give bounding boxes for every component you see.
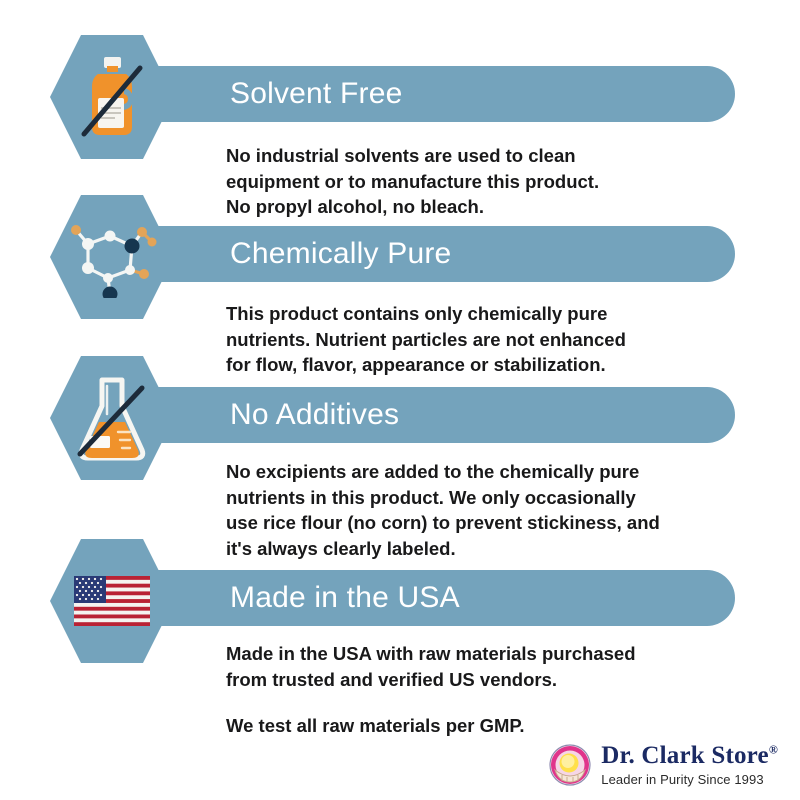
title-bar-solvent-free: Solvent Free bbox=[118, 66, 735, 122]
section-title-chemically-pure: Chemically Pure bbox=[230, 239, 451, 269]
section-title-solvent-free: Solvent Free bbox=[230, 79, 402, 109]
icon-badge-no-additives bbox=[50, 356, 174, 480]
title-bar-made-in-the-usa: Made in the USA bbox=[118, 570, 735, 626]
brand-footer[interactable]: Dr. Clark Store® Leader in Purity Since … bbox=[549, 743, 778, 786]
dr-clark-store-logo-icon bbox=[549, 744, 591, 786]
section-body-chemically-pure: This product contains only chemically pu… bbox=[226, 301, 726, 378]
section-title-made-in-the-usa: Made in the USA bbox=[230, 583, 460, 613]
flask-crossed-out-icon bbox=[72, 374, 152, 462]
brand-lockup: Dr. Clark Store® Leader in Purity Since … bbox=[601, 743, 778, 786]
section-body-solvent-free: No industrial solvents are used to clean… bbox=[226, 143, 726, 220]
icon-badge-solvent-free bbox=[50, 35, 174, 159]
icon-badge-chemically-pure bbox=[50, 195, 174, 319]
icon-badge-made-in-the-usa bbox=[50, 539, 174, 663]
molecule-icon bbox=[66, 216, 158, 298]
infographic-page: Solvent Free bbox=[0, 0, 800, 800]
title-bar-chemically-pure: Chemically Pure bbox=[118, 226, 735, 282]
brand-tagline: Leader in Purity Since 1993 bbox=[601, 773, 778, 786]
brand-name-text: Dr. Clark Store bbox=[601, 742, 769, 769]
bottle-crossed-out-icon bbox=[76, 54, 148, 140]
registered-mark: ® bbox=[769, 743, 778, 757]
us-flag-icon bbox=[74, 576, 150, 626]
section-body-made-in-the-usa-secondary: We test all raw materials per GMP. bbox=[226, 713, 726, 739]
section-body-no-additives: No excipients are added to the chemicall… bbox=[226, 459, 726, 561]
title-bar-no-additives: No Additives bbox=[118, 387, 735, 443]
section-body-made-in-the-usa: Made in the USA with raw materials purch… bbox=[226, 641, 726, 692]
section-title-no-additives: No Additives bbox=[230, 400, 399, 430]
brand-name: Dr. Clark Store® bbox=[601, 743, 778, 768]
